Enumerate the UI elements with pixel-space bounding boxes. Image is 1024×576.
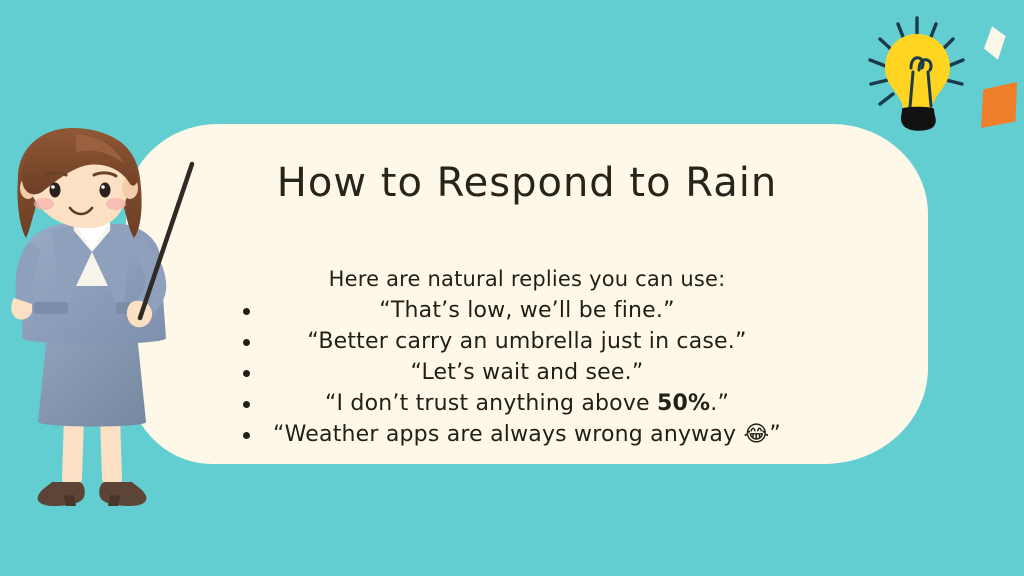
content-card: How to Respond to Rain Here are natural … <box>126 124 928 464</box>
list-item: “That’s low, we’ll be fine.” <box>126 295 928 326</box>
orange-quad-shape <box>981 82 1017 128</box>
page-title: How to Respond to Rain <box>126 160 928 206</box>
list-item: “Better carry an umbrella just in case.” <box>126 326 928 357</box>
teacher-illustration <box>0 126 200 544</box>
intro-text: Here are natural replies you can use: <box>126 264 928 295</box>
list-item-text-before: “Weather apps are always wrong anyway <box>273 422 743 447</box>
cream-diamond-shape <box>979 24 1011 63</box>
list-item: “Let’s wait and see.” <box>126 357 928 388</box>
lightbulb-icon <box>858 12 978 136</box>
list-item: “Weather apps are always wrong anyway 😂” <box>126 419 928 450</box>
replies-block: Here are natural replies you can use: “T… <box>126 264 928 450</box>
tears-of-joy-emoji-icon: 😂 <box>743 422 769 447</box>
list-item-text-after: ” <box>769 422 781 447</box>
list-item: “I don’t trust anything above 50%.” <box>126 388 928 419</box>
replies-list: “That’s low, we’ll be fine.” “Better car… <box>126 295 928 450</box>
list-item-text-after: .” <box>710 391 729 416</box>
percent-emphasis: 50% <box>657 391 710 416</box>
list-item-text-before: “I don’t trust anything above <box>325 391 657 416</box>
